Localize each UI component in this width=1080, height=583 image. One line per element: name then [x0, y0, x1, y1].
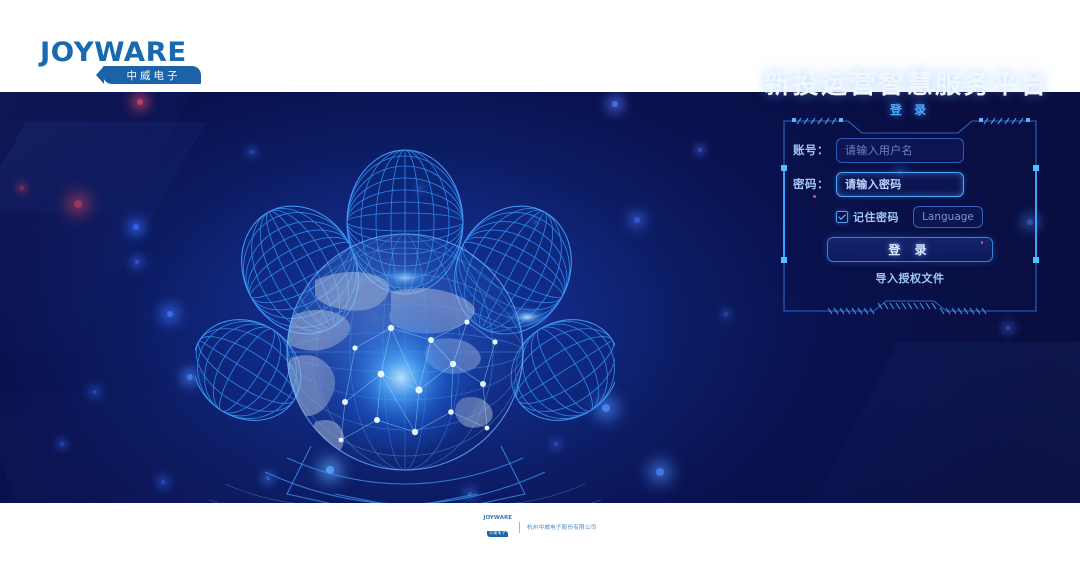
page-footer: JOYWARE 中威电子 杭州中威电子股份有限公司	[0, 503, 1080, 583]
particle-dot	[698, 148, 702, 152]
password-required-dot	[813, 195, 816, 198]
particle-dot	[187, 374, 193, 380]
remember-password-label[interactable]: 记住密码	[853, 209, 899, 225]
particle-dot	[656, 468, 664, 476]
footer-logo-subtitle: 中威电子	[487, 531, 508, 537]
footer-content: JOYWARE 中威电子 杭州中威电子股份有限公司	[483, 515, 596, 539]
particle-dot	[74, 200, 82, 208]
particle-dot	[93, 390, 98, 395]
page-title: 新投运营智慧服务平台	[764, 64, 1060, 101]
particle-dot	[20, 186, 24, 190]
login-form: 账号： 密码： 记住密码 Language 登 录 导入授权文件	[770, 137, 1050, 286]
brand-logo-banner: 中威电子	[103, 66, 201, 84]
import-license-link[interactable]: 导入授权文件	[770, 270, 1050, 286]
particle-dot	[724, 312, 728, 316]
options-row: 记住密码 Language	[770, 205, 1050, 229]
button-required-dot	[981, 241, 984, 244]
login-submit-button[interactable]: 登 录	[827, 237, 993, 262]
login-frame: 登 录 账号： 密码： 记住密码 Language 登 录	[770, 107, 1050, 325]
footer-logo-text: JOYWARE	[483, 515, 512, 521]
language-select[interactable]: Language	[913, 206, 983, 228]
particle-dot	[167, 311, 174, 318]
account-field-row: 账号：	[770, 137, 1050, 163]
password-input[interactable]	[836, 172, 964, 197]
footer-divider	[519, 522, 520, 533]
decorative-panel-a	[0, 92, 207, 212]
brand-logo-text: JOYWARE	[40, 38, 203, 68]
account-label: 账号：	[770, 142, 836, 158]
password-label: 密码：	[770, 176, 836, 192]
particle-dot	[161, 480, 166, 485]
gear-globe-wireframe-icon	[195, 102, 615, 503]
account-input[interactable]	[836, 138, 964, 163]
remember-password-checkbox[interactable]	[836, 211, 848, 223]
footer-company-name: 杭州中威电子股份有限公司	[527, 523, 597, 531]
login-submit-label: 登 录	[888, 241, 931, 258]
brand-logo-subtitle: 中威电子	[124, 68, 181, 83]
particle-dot	[634, 217, 640, 223]
brand-logo[interactable]: JOYWARE 中威电子	[40, 38, 200, 84]
password-field-row: 密码：	[770, 171, 1050, 197]
particle-dot	[60, 442, 64, 446]
particle-dot	[137, 99, 143, 105]
particle-dot	[133, 224, 139, 230]
login-frame-title: 登 录	[770, 101, 1050, 118]
decorative-panel-b	[0, 122, 206, 352]
login-section: 新投运营智慧服务平台	[760, 55, 1060, 405]
footer-logo-group: JOYWARE 中威电子	[483, 515, 512, 539]
checkmark-icon	[838, 212, 846, 220]
particle-dot	[135, 260, 140, 265]
